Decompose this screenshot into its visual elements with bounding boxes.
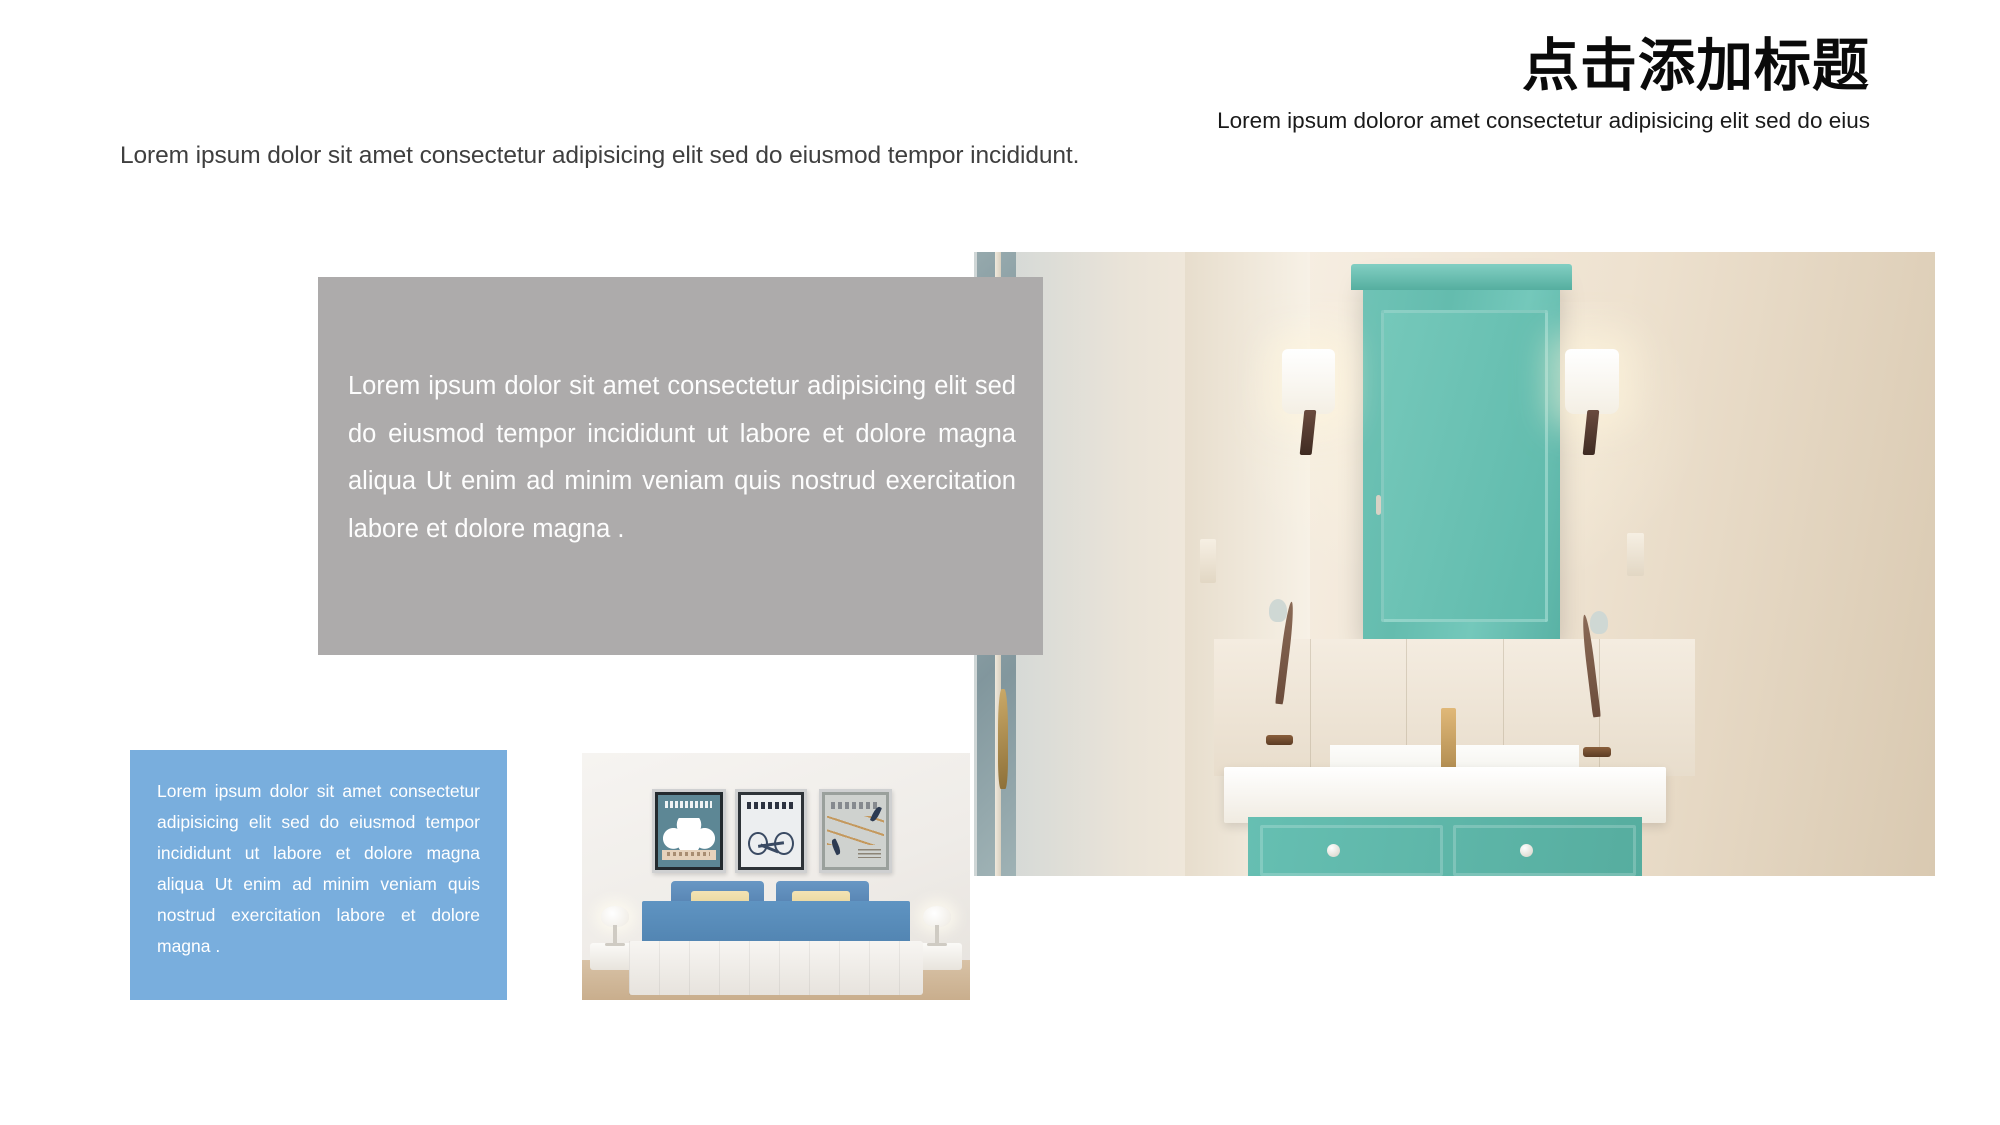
door-handle-icon bbox=[998, 689, 1008, 789]
bathroom-photo bbox=[974, 252, 1935, 876]
poster-title-text bbox=[831, 802, 880, 809]
wall-switch-right bbox=[1627, 533, 1643, 577]
page-title: 点击添加标题 bbox=[1170, 36, 1870, 98]
cabinet-handle-icon bbox=[1376, 495, 1381, 515]
poster-artwork bbox=[822, 792, 890, 870]
bird-sculpture-right bbox=[1579, 614, 1614, 758]
lamp-stem bbox=[935, 925, 938, 943]
bathroom-wall-cabinet bbox=[1363, 277, 1560, 642]
blue-text-panel: Lorem ipsum dolor sit amet consectetur a… bbox=[130, 750, 507, 1000]
header-left-paragraph: Lorem ipsum dolor sit amet consectetur a… bbox=[120, 141, 1230, 172]
poster-artwork bbox=[655, 792, 723, 870]
poster-caption-band bbox=[662, 850, 716, 860]
sconce-shade bbox=[1282, 349, 1336, 415]
vanity-knob-left bbox=[1327, 844, 1340, 857]
poster-title-text bbox=[665, 801, 712, 807]
poster-frame-art-is-life bbox=[819, 789, 893, 873]
bird-sculpture-left bbox=[1262, 601, 1297, 745]
poster-artwork bbox=[738, 792, 804, 870]
wall-sconce-left bbox=[1282, 349, 1336, 455]
bird-base bbox=[1583, 747, 1611, 757]
poster-title-text bbox=[747, 802, 795, 809]
sconce-shade bbox=[1565, 349, 1619, 415]
bird-head bbox=[1590, 611, 1608, 634]
table-lamp-left bbox=[598, 906, 633, 946]
bed-base bbox=[629, 941, 924, 995]
wall-sconce-right bbox=[1565, 349, 1619, 455]
lamp-base bbox=[605, 943, 625, 946]
bicycle-icon bbox=[748, 831, 793, 855]
lamp-shade bbox=[601, 906, 629, 927]
bathroom-vanity-cabinet bbox=[1248, 817, 1642, 876]
vanity-door-left bbox=[1260, 825, 1443, 876]
gray-panel-body: Lorem ipsum dolor sit amet consectetur a… bbox=[348, 363, 1016, 554]
sconce-arm bbox=[1583, 410, 1600, 455]
lamp-stem bbox=[613, 925, 616, 943]
bird-base bbox=[1266, 735, 1294, 745]
tile-grout-line bbox=[1310, 639, 1311, 776]
lamp-base bbox=[927, 943, 947, 946]
vanity-knob-right bbox=[1520, 844, 1533, 857]
snowflake-icon bbox=[663, 818, 715, 853]
header-right-block: 点击添加标题 Lorem ipsum doloror amet consecte… bbox=[1170, 36, 1870, 135]
page-subtitle: Lorem ipsum doloror amet consectetur adi… bbox=[1170, 106, 1870, 136]
wall-switch-left bbox=[1200, 539, 1216, 583]
poster-frame-cold-beauty bbox=[652, 789, 726, 873]
blue-panel-body: Lorem ipsum dolor sit amet consectetur a… bbox=[157, 776, 480, 962]
vanity-door-right bbox=[1453, 825, 1636, 876]
gray-text-panel: Lorem ipsum dolor sit amet consectetur a… bbox=[318, 277, 1043, 655]
slide-canvas: Lorem ipsum dolor sit amet consectetur a… bbox=[0, 0, 2000, 1125]
poster-frame-bicycle-city bbox=[735, 789, 807, 873]
poster-caption-text bbox=[858, 849, 881, 858]
bedroom-photo bbox=[582, 753, 970, 1000]
bird-head bbox=[1269, 599, 1287, 622]
table-lamp-right bbox=[920, 906, 955, 946]
bathroom-countertop bbox=[1224, 767, 1666, 823]
lamp-shade bbox=[923, 906, 951, 927]
sconce-arm bbox=[1300, 410, 1317, 455]
